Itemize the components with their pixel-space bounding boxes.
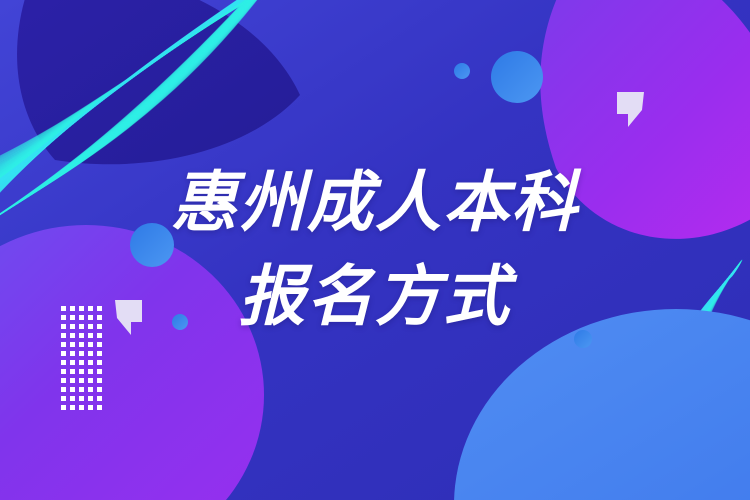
dot-grid-cell bbox=[79, 315, 84, 320]
dot-grid-cell bbox=[70, 396, 75, 401]
circle-large-top bbox=[491, 51, 543, 103]
background-artwork bbox=[0, 0, 750, 500]
dot-grid-cell bbox=[61, 306, 66, 311]
dot-grid-cell bbox=[70, 351, 75, 356]
dot-grid-cell bbox=[79, 351, 84, 356]
dot-grid-cell bbox=[61, 342, 66, 347]
dot-grid-cell bbox=[88, 351, 93, 356]
dot-grid-cell bbox=[88, 306, 93, 311]
dot-grid-cell bbox=[61, 387, 66, 392]
dot-grid-cell bbox=[61, 351, 66, 356]
dot-grid-cell bbox=[97, 306, 102, 311]
dot-grid-cell bbox=[97, 396, 102, 401]
dot-grid-cell bbox=[97, 360, 102, 365]
dot-grid-cell bbox=[61, 378, 66, 383]
dot-grid-cell bbox=[70, 387, 75, 392]
circle-small-right bbox=[574, 330, 592, 348]
dot-grid-cell bbox=[61, 360, 66, 365]
dot-grid-cell bbox=[70, 342, 75, 347]
dot-grid-cell bbox=[61, 315, 66, 320]
dot-grid-cell bbox=[79, 306, 84, 311]
dot-grid-cell bbox=[97, 378, 102, 383]
dot-grid-cell bbox=[79, 396, 84, 401]
dot-grid-cell bbox=[79, 378, 84, 383]
dot-grid-cell bbox=[70, 378, 75, 383]
dot-grid-cell bbox=[88, 315, 93, 320]
dot-grid-cell bbox=[88, 387, 93, 392]
dot-grid-cell bbox=[88, 369, 93, 374]
dot-grid-cell bbox=[61, 324, 66, 329]
promo-banner: 惠州成人本科 报名方式 bbox=[0, 0, 750, 500]
dot-grid-cell bbox=[88, 360, 93, 365]
dot-grid-cell bbox=[97, 369, 102, 374]
dot-grid-cell bbox=[79, 360, 84, 365]
dot-grid-cell bbox=[70, 360, 75, 365]
dot-grid-cell bbox=[70, 324, 75, 329]
dot-grid-cell bbox=[70, 306, 75, 311]
dot-grid-cell bbox=[97, 405, 102, 410]
dot-grid-cell bbox=[61, 369, 66, 374]
dot-grid-cell bbox=[79, 333, 84, 338]
dot-grid-cell bbox=[97, 351, 102, 356]
dot-grid-cell bbox=[88, 342, 93, 347]
dot-grid-cell bbox=[88, 333, 93, 338]
dot-grid-cell bbox=[97, 342, 102, 347]
dot-grid-cell bbox=[79, 387, 84, 392]
circle-mid-left bbox=[130, 223, 174, 267]
dot-grid-cell bbox=[88, 378, 93, 383]
dot-grid-cell bbox=[79, 324, 84, 329]
dot-grid-cell bbox=[97, 324, 102, 329]
dot-grid-cell bbox=[79, 369, 84, 374]
dot-grid-cell bbox=[97, 333, 102, 338]
circle-small-low bbox=[172, 314, 188, 330]
dot-grid-cell bbox=[79, 342, 84, 347]
dot-grid-cell bbox=[61, 333, 66, 338]
dot-grid-cell bbox=[79, 405, 84, 410]
dot-grid-cell bbox=[70, 369, 75, 374]
dot-grid-cell bbox=[61, 396, 66, 401]
dot-grid-cell bbox=[88, 324, 93, 329]
dot-grid-cell bbox=[70, 315, 75, 320]
dot-grid-cell bbox=[97, 387, 102, 392]
dot-grid-cell bbox=[61, 405, 66, 410]
dot-grid-cell bbox=[70, 405, 75, 410]
dot-grid-cell bbox=[97, 315, 102, 320]
circle-small-top bbox=[454, 63, 470, 79]
dot-grid-cell bbox=[70, 333, 75, 338]
dot-grid-cell bbox=[88, 405, 93, 410]
dot-grid-cell bbox=[88, 396, 93, 401]
